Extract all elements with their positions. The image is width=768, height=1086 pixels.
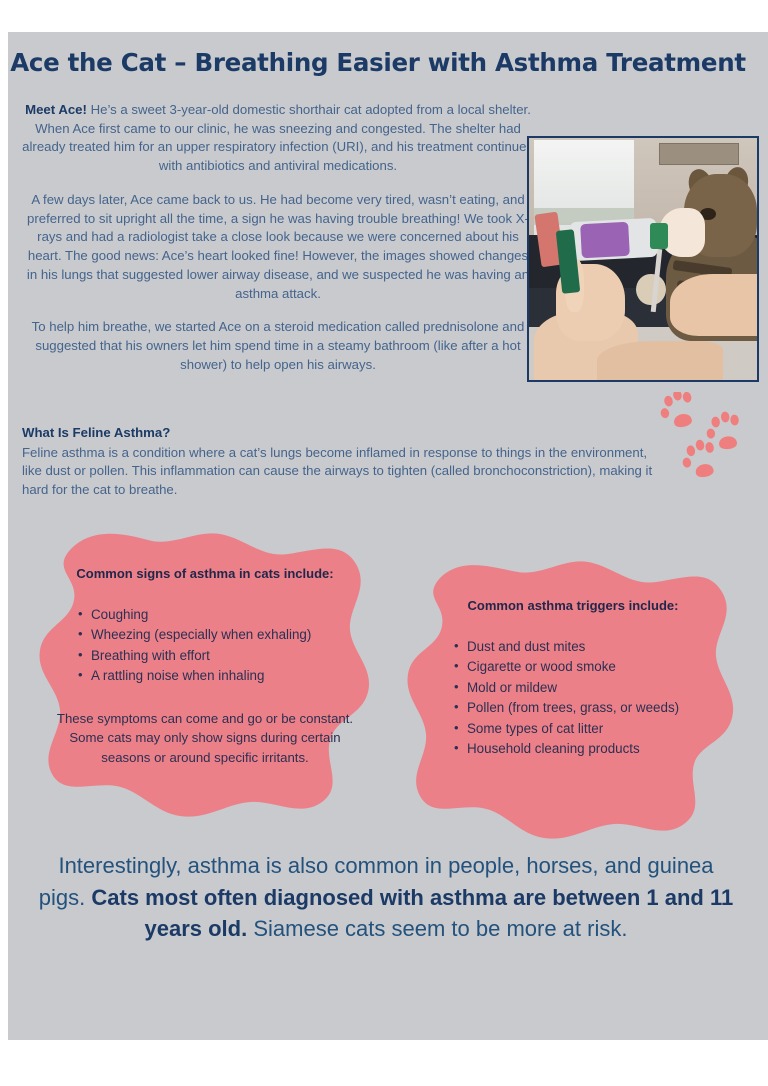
signs-panel-heading: Common signs of asthma in cats include: (54, 566, 356, 581)
triggers-panel-content: Common asthma triggers include: Dust and… (430, 598, 716, 759)
list-item: Breathing with effort (78, 646, 356, 666)
list-item: Pollen (from trees, grass, or weeds) (454, 698, 716, 718)
paw-prints-icon (656, 392, 760, 480)
cat-inhaler-photo (527, 136, 759, 382)
intro-text-block: Meet Ace! He’s a sweet 3-year-old domest… (22, 101, 534, 390)
photo-person-leg (597, 341, 722, 382)
list-item: Coughing (78, 605, 356, 625)
signs-list: Coughing Wheezing (especially when exhal… (54, 605, 356, 687)
intro-paragraph-2: A few days later, Ace came back to us. H… (22, 191, 534, 303)
feline-asthma-body: Feline asthma is a condition where a cat… (22, 444, 662, 500)
triggers-list: Dust and dust mites Cigarette or wood sm… (430, 637, 716, 759)
feline-asthma-section: What Is Feline Asthma? Feline asthma is … (22, 424, 662, 500)
list-item: Dust and dust mites (454, 637, 716, 657)
list-item: A rattling noise when inhaling (78, 666, 356, 686)
closing-statement: Interestingly, asthma is also common in … (36, 850, 736, 945)
lead-in-bold: Meet Ace! (25, 102, 87, 117)
list-item: Mold or mildew (454, 678, 716, 698)
paw-print-decoration (656, 392, 760, 480)
list-item: Household cleaning products (454, 739, 716, 759)
feline-asthma-heading: What Is Feline Asthma? (22, 424, 662, 443)
intro-paragraph-1: Meet Ace! He’s a sweet 3-year-old domest… (22, 101, 534, 176)
list-item: Some types of cat litter (454, 719, 716, 739)
page-title: Ace the Cat – Breathing Easier with Asth… (8, 48, 748, 77)
closing-part-2: Siamese cats seem to be more at risk. (247, 916, 627, 941)
poster-page: Ace the Cat – Breathing Easier with Asth… (8, 32, 768, 1040)
triggers-panel: Common asthma triggers include: Dust and… (396, 554, 744, 846)
photo-spacer-tip (650, 223, 668, 250)
triggers-panel-heading: Common asthma triggers include: (430, 598, 716, 613)
photo-person-arm (670, 274, 759, 337)
list-item: Wheezing (especially when exhaling) (78, 625, 356, 645)
signs-panel-content: Common signs of asthma in cats include: … (54, 566, 356, 767)
intro-paragraph-1-text: He’s a sweet 3-year-old domestic shortha… (22, 102, 534, 173)
intro-paragraph-3: To help him breathe, we started Ace on a… (22, 318, 534, 374)
signs-panel: Common signs of asthma in cats include: … (30, 524, 380, 824)
list-item: Cigarette or wood smoke (454, 657, 716, 677)
signs-panel-note: These symptoms can come and go or be con… (54, 709, 356, 768)
photo-spacer-label (581, 221, 631, 257)
photo-wall-art (659, 143, 739, 165)
